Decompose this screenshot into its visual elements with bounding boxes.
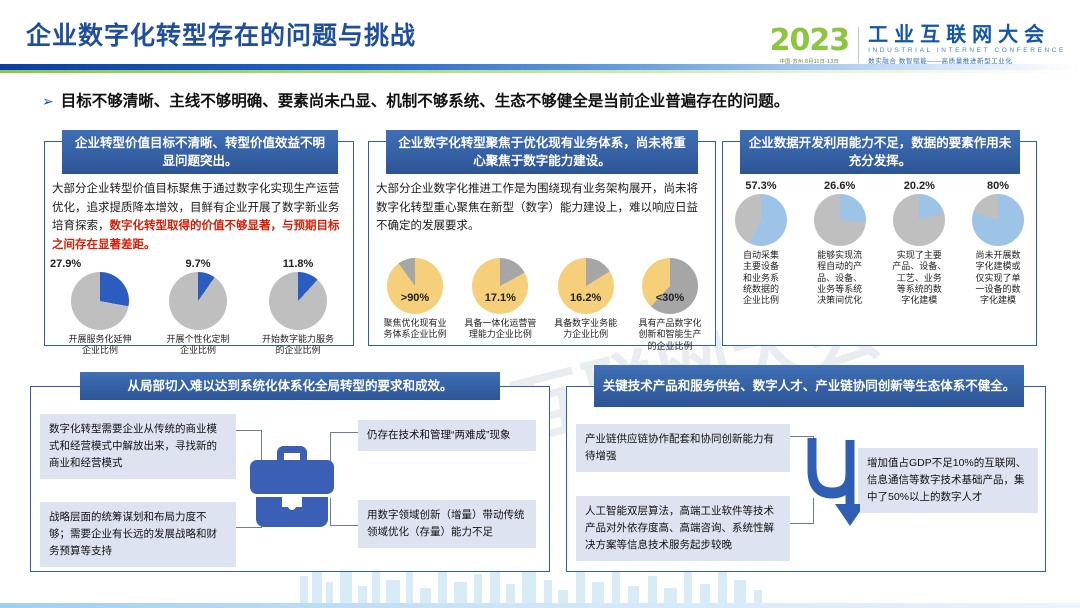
note-item: 用数字领域创新（增量）带动传统领域优化（存量）能力不足 [358, 500, 536, 548]
panel-local-entry-header: 从局部切入难以达到系统化体系化全局转型的要求和成效。 [80, 372, 500, 400]
panel3-charts: 57.3% 自动采集主要设备和业务系统数据的企业比例 26.6% 能够实现流程自… [726, 180, 1033, 306]
logo-text-block: 工业互联网大会 INDUSTRIAL INTERNET CONFERENCE 数… [868, 25, 1066, 65]
logo-title-en: INDUSTRIAL INTERNET CONFERENCE [868, 47, 1066, 54]
pie-label: 具有产品数字化创新和智能生产的企业比例 [638, 318, 701, 352]
pie-label: 具备数字业务能力企业比例 [554, 318, 617, 341]
pie-chart-item: 16.2% 具备数字业务能力企业比例 [545, 258, 627, 352]
pie-chart-item: <30% 具有产品数字化创新和智能生产的企业比例 [628, 258, 712, 352]
pie-value: 17.1% [485, 292, 516, 304]
main-bullet: ➢目标不够清晰、主线不够明确、要素尚未凸显、机制不够系统、生态不够健全是当前企业… [42, 89, 1052, 111]
pie-chart-item: 26.6% 能够实现流程自动的产品、设备、业务等系统决策间优化 [804, 180, 876, 306]
pie-value: 80% [987, 180, 1009, 192]
panel1-charts: 27.9% 开展服务化延伸企业比例 9.7% 开展个性化定制企业比例 11.8%… [52, 258, 348, 357]
pie-graphic [972, 194, 1024, 246]
pie-chart-item: 27.9% 开展服务化延伸企业比例 [52, 258, 148, 357]
panel-focus-business-body: 大部分企业数字化推进工作是为围绕现有业务架构展开，尚未将数字化转型重心聚焦在新型… [376, 180, 708, 236]
note-item: 人工智能双层算法，高端工业软件等技术产品对外依存度高、高端咨询、系统性解决方案等… [576, 496, 790, 561]
pie-label: 开展个性化定制企业比例 [166, 334, 229, 357]
pie-chart-item: 9.7% 开展个性化定制企业比例 [150, 258, 246, 357]
briefcase-icon [250, 446, 334, 530]
pie-value: <30% [656, 292, 684, 304]
logo-subtitle: 数实融合 数智赋能——高质量推进新型工业化 [868, 55, 1066, 65]
pie-label: 开展服务化延伸企业比例 [68, 334, 131, 357]
pie-graphic [71, 272, 129, 330]
pie-label: 具备一体化运营管理能力企业比例 [464, 318, 536, 341]
pie-graphic [472, 258, 528, 314]
page-title: 企业数字化转型存在的问题与挑战 [26, 16, 416, 52]
pie-value: 9.7% [185, 258, 210, 270]
pie-graphic [387, 258, 443, 314]
note-item: 仍存在技术和管理“两难成”现象 [358, 420, 536, 451]
note-item: 战略层面的统筹谋划和布局力度不够；需要企业有长远的发展战略和财务预算等支持 [40, 502, 236, 567]
pie-chart-item: 57.3% 自动采集主要设备和业务系统数据的企业比例 [726, 180, 796, 306]
panel-value-goals-body: 大部分企业转型价值目标聚焦于通过数字化实现生产运营优化，追求提质降本增效，目鲜有… [52, 180, 348, 255]
pie-value: 26.6% [824, 180, 855, 192]
pie-graphic [814, 194, 866, 246]
pie-chart-item: 11.8% 开始数字能力服务的企业比例 [248, 258, 348, 357]
pie-graphic [735, 194, 787, 246]
pie-chart-item: >90% 聚焦优化现有业务体系企业比例 [374, 258, 456, 352]
logo-year: 2023 [770, 26, 850, 56]
pie-graphic [169, 272, 227, 330]
connector-line [330, 432, 358, 462]
note-item: 数字化转型需要企业从传统的商业模式和经营模式中解放出来，寻找新的商业和经营模式 [40, 414, 236, 479]
logo-date: 中国·苏州 8月11日-13日 [780, 58, 839, 65]
pie-graphic [558, 258, 614, 314]
panel-data-capability-header: 企业数据开发利用能力不足，数据的要素作用未充分发挥。 [740, 130, 1020, 174]
pie-label: 实现了主要产品、设备、工艺、业务等系统的数字化建模 [892, 250, 946, 306]
note-item: 产业链供应链协作配套和协同创新能力有待增强 [576, 424, 790, 472]
pie-label: 聚焦优化现有业务体系企业比例 [383, 318, 446, 341]
header-divider-green [0, 70, 1080, 73]
pie-graphic [893, 194, 945, 246]
bullet-arrow-icon: ➢ [42, 93, 54, 109]
pie-chart-item: 20.2% 实现了主要产品、设备、工艺、业务等系统的数字化建模 [883, 180, 955, 306]
pie-label: 能够实现流程自动的产品、设备、业务等系统决策间优化 [817, 250, 862, 306]
pie-value: 27.9% [50, 258, 81, 270]
panel2-charts: >90% 聚焦优化现有业务体系企业比例 17.1% 具备一体化运营管理能力企业比… [374, 258, 712, 352]
pie-label: 开始数字能力服务的企业比例 [262, 334, 334, 357]
briefcase-top [250, 460, 334, 494]
pie-value: 11.8% [283, 258, 314, 270]
panel-value-goals-header: 企业转型价值目标不清晰、转型价值效益不明显问题突出。 [62, 130, 338, 174]
panel-focus-business-header: 企业数字化转型聚焦于优化现有业务体系，尚未将重心聚焦于数字能力建设。 [386, 130, 698, 174]
bullet-text: 目标不够清晰、主线不够明确、要素尚未凸显、机制不够系统、生态不够健全是当前企业普… [61, 93, 790, 110]
pie-chart-item: 80% 尚未开展数字化建模或仅实现了单一设备的数字化建模 [963, 180, 1033, 306]
logo-title-cn: 工业互联网大会 [868, 25, 1066, 46]
pie-graphic [269, 272, 327, 330]
u-turn-arrow-icon [806, 430, 860, 530]
pie-graphic [642, 258, 698, 314]
pie-chart-item: 17.1% 具备一体化运营管理能力企业比例 [457, 258, 543, 352]
logo-year-block: 2023 中国·苏州 8月11日-13日 [770, 26, 859, 65]
conference-logo: 2023 中国·苏州 8月11日-13日 工业互联网大会 INDUSTRIAL … [770, 22, 1066, 68]
pie-value: 57.3% [745, 180, 776, 192]
panel-ecosystem-header: 关键技术产品和服务供给、数字人才、产业链协同创新等生态体系不健全。 [594, 365, 1024, 407]
pie-label: 自动采集主要设备和业务系统数据的企业比例 [743, 250, 779, 306]
note-item: 增加值占GDP不足10%的互联网、信息通信等数字技术基础产品，集中了50%以上的… [858, 448, 1038, 513]
logo-divider [858, 27, 859, 63]
pie-value: 16.2% [570, 292, 601, 304]
pie-value: >90% [401, 292, 429, 304]
briefcase-lock-dot [288, 502, 296, 510]
pie-value: 20.2% [904, 180, 935, 192]
connector-line [330, 498, 358, 526]
slide-root: 企业数字化转型存在的问题与挑战 2023 中国·苏州 8月11日-13日 工业互… [0, 0, 1080, 608]
pie-label: 尚未开展数字化建模或仅实现了单一设备的数字化建模 [975, 250, 1020, 306]
footer-bar [0, 603, 1080, 608]
